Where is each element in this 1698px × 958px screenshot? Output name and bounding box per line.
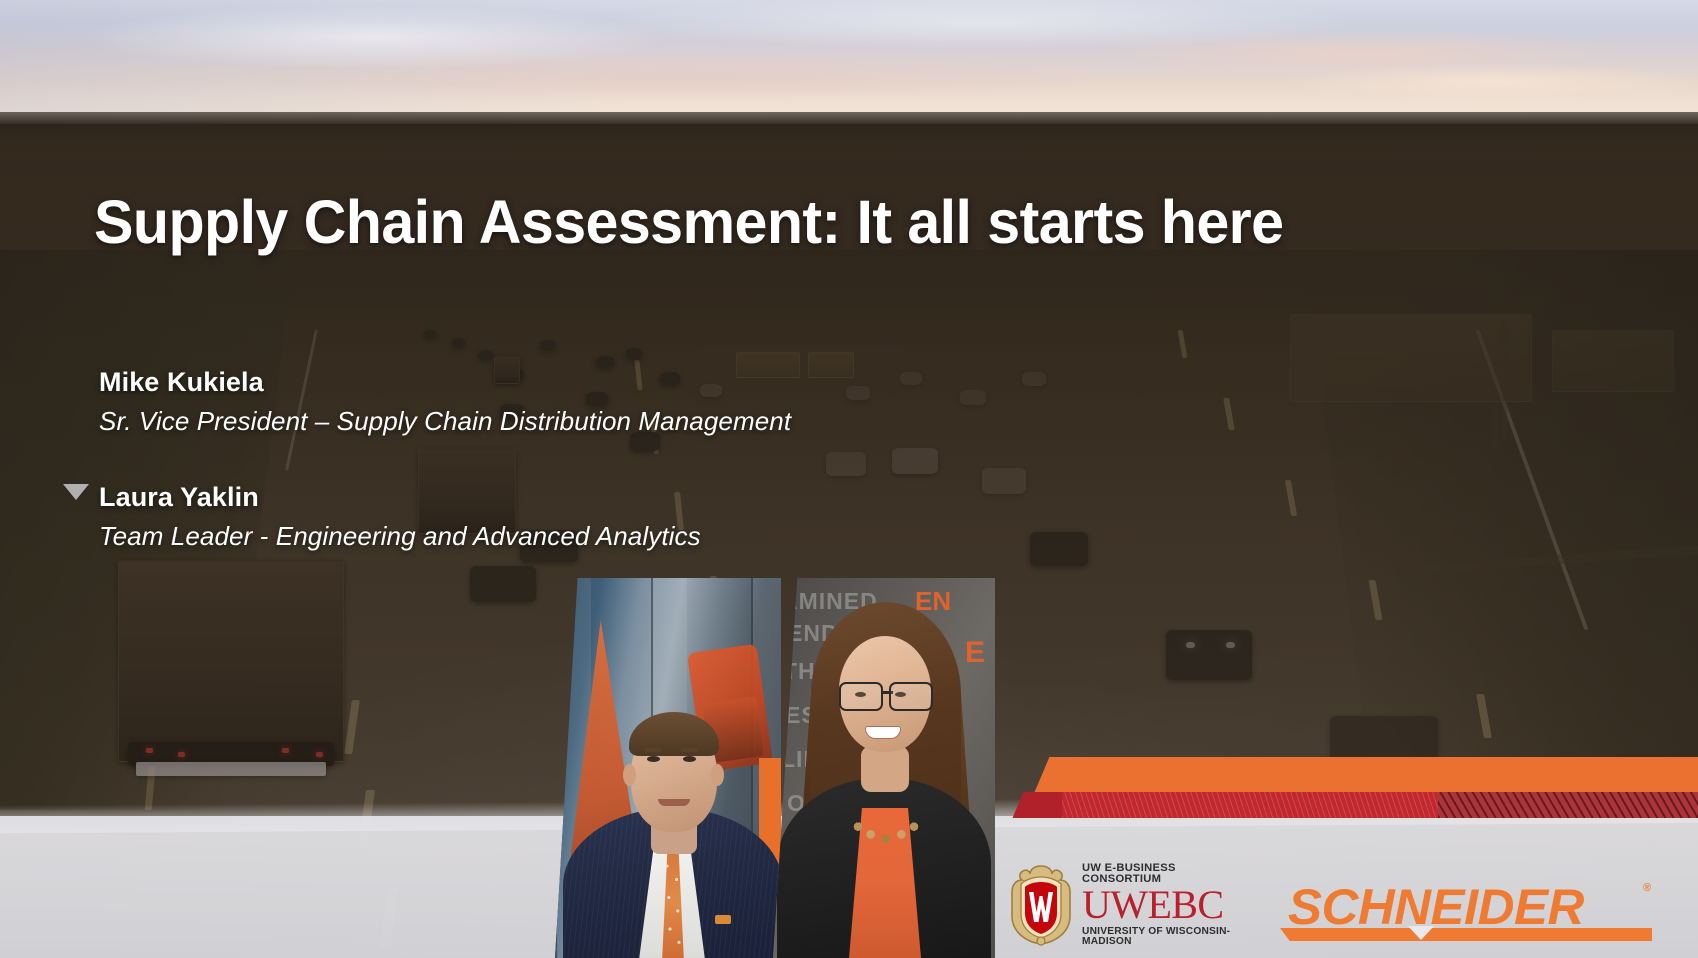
necklace: [851, 820, 921, 850]
uwebc-wordmark: UW E-BUSINESS CONSORTIUM UWEBC UNIVERSIT…: [1082, 863, 1254, 947]
mouth: [658, 799, 690, 806]
presenter-role: Team Leader - Engineering and Advanced A…: [99, 520, 701, 553]
schneider-arrow-notch: [1408, 926, 1434, 940]
schneider-trademark-symbol: ®: [1643, 882, 1651, 894]
presenter-role: Sr. Vice President – Supply Chain Distri…: [99, 405, 791, 438]
schneider-wordmark: SCHNEIDER: [1288, 878, 1584, 936]
uwebc-tagline-bottom: UNIVERSITY OF WISCONSIN-MADISON: [1082, 927, 1254, 947]
headshot-laura-yaklin: AMINED ENDURING THE ESILIEN LIN OPER EN …: [773, 578, 995, 958]
lapel-pin: [715, 915, 731, 924]
wall-text-accent: E: [965, 636, 985, 670]
eyebrow: [645, 748, 662, 752]
sky-gradient: [0, 0, 1698, 124]
presenter-name: Laura Yaklin: [99, 480, 701, 515]
uw-crest-icon: [1008, 864, 1074, 946]
schneider-underline-bar: [1280, 928, 1652, 941]
presenter-block-1: Mike Kukiela Sr. Vice President – Supply…: [99, 365, 791, 438]
ear: [711, 764, 724, 786]
neck: [861, 746, 909, 792]
presenter-name: Mike Kukiela: [99, 365, 791, 400]
headshot-mike-kukiela: [555, 578, 781, 958]
mouth: [865, 726, 901, 739]
eye: [683, 756, 696, 762]
eye: [647, 756, 660, 762]
crimson-bar-hatched: [1438, 792, 1698, 818]
triangle-marker-icon: [63, 484, 89, 500]
uwebc-acronym: UWEBC: [1082, 886, 1254, 924]
eyebrow: [681, 748, 698, 752]
eyeglasses: [837, 682, 935, 708]
ear: [623, 764, 636, 786]
lens-left: [839, 682, 883, 711]
lens-right: [889, 682, 933, 711]
presenter-headshots: AMINED ENDURING THE ESILIEN LIN OPER EN …: [555, 578, 1005, 958]
schneider-logo: SCHNEIDER ®: [1288, 878, 1688, 948]
presenter-block-2: Laura Yaklin Team Leader - Engineering a…: [99, 480, 701, 553]
presentation-slide: Supply Chain Assessment: It all starts h…: [0, 0, 1698, 958]
slide-title: Supply Chain Assessment: It all starts h…: [94, 188, 1355, 256]
uwebc-logo: UW E-BUSINESS CONSORTIUM UWEBC UNIVERSIT…: [1008, 862, 1254, 948]
orange-accent-bar: [1090, 757, 1698, 792]
